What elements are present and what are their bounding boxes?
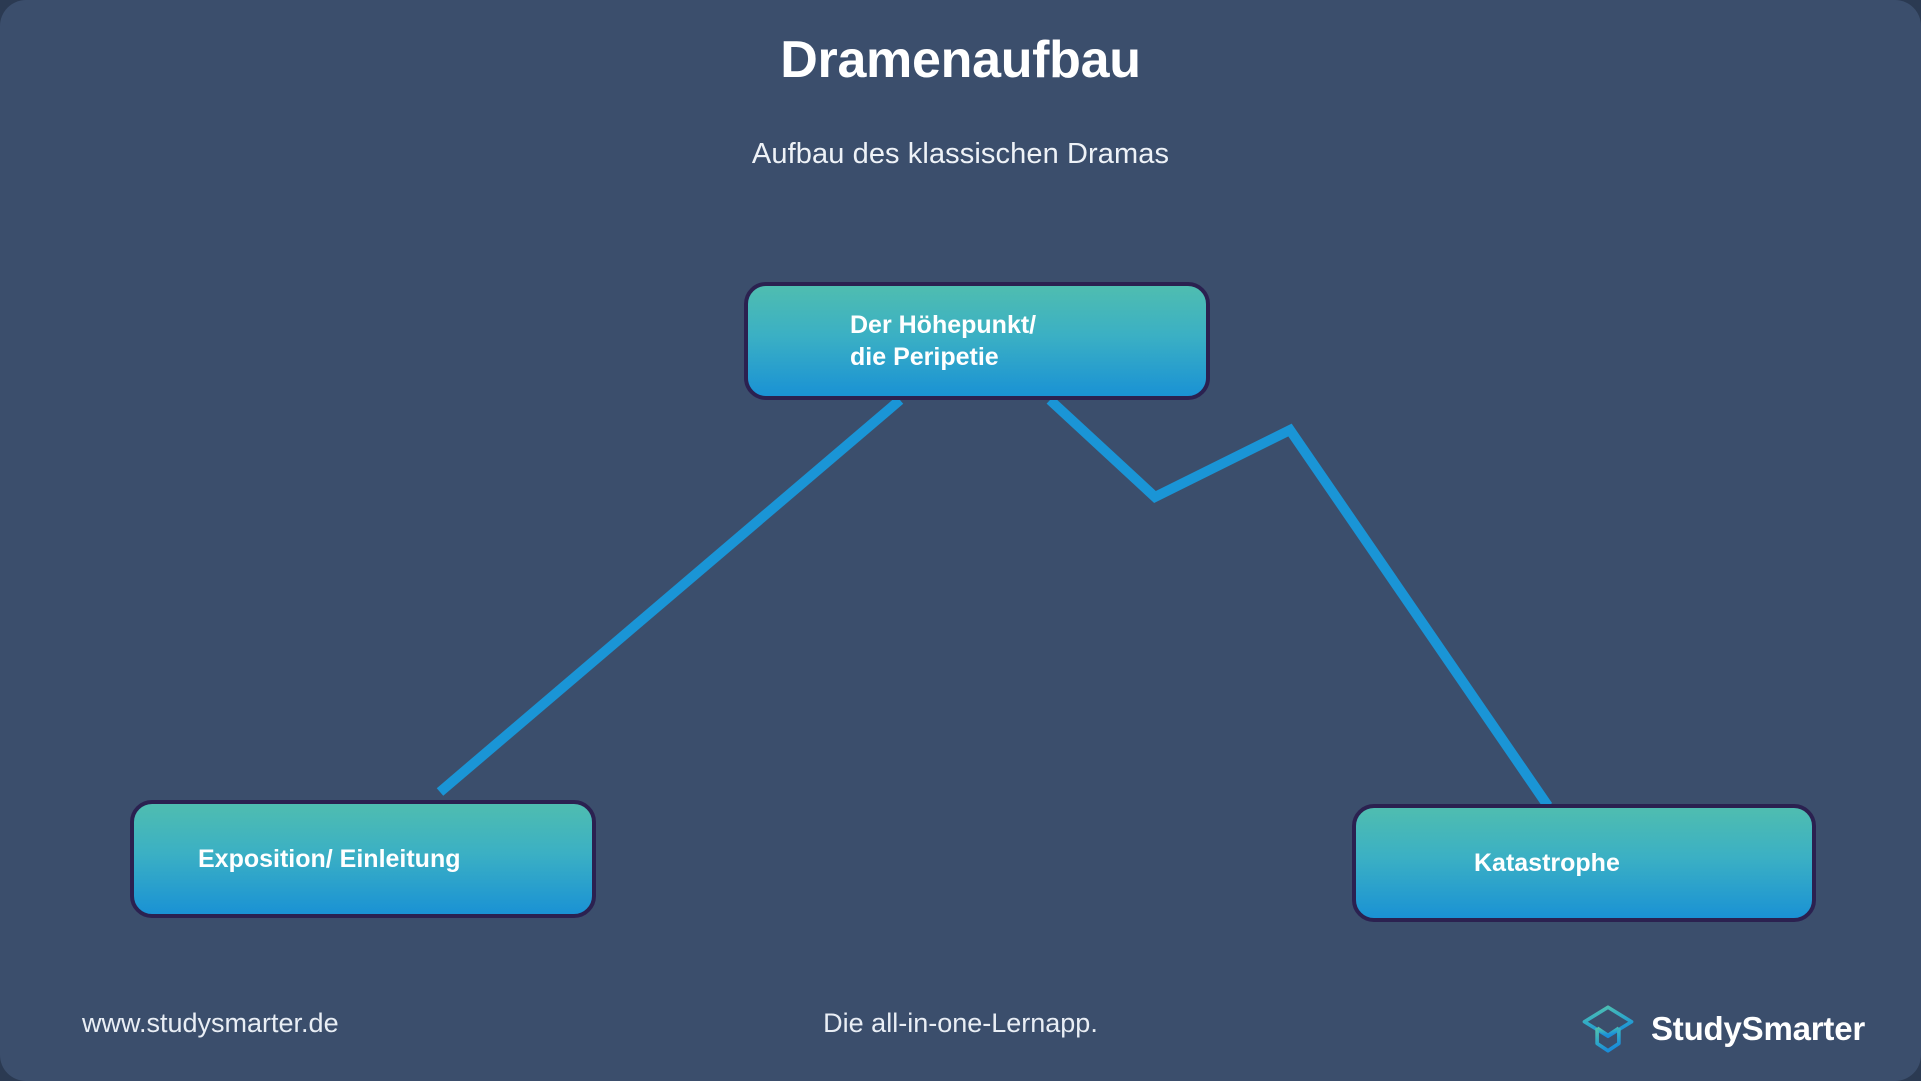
node-climax-label: Der Höhepunkt/ die Peripetie <box>850 309 1036 373</box>
brand-logo[interactable]: StudySmarter <box>1579 1000 1865 1058</box>
node-exposition-label: Exposition/ Einleitung <box>198 843 461 875</box>
brand-name: StudySmarter <box>1651 1010 1865 1048</box>
node-climax[interactable]: Der Höhepunkt/ die Peripetie <box>744 282 1210 400</box>
rising-action-line <box>440 400 900 792</box>
node-exposition[interactable]: Exposition/ Einleitung <box>130 800 596 918</box>
diagram-canvas: Dramenaufbau Aufbau des klassischen Dram… <box>0 0 1921 1081</box>
node-climax-label-line1: Der Höhepunkt/ <box>850 311 1036 339</box>
graduation-cap-icon <box>1579 1000 1637 1058</box>
node-catastrophe-label: Katastrophe <box>1474 847 1620 879</box>
node-catastrophe[interactable]: Katastrophe <box>1352 804 1816 922</box>
node-climax-label-line2: die Peripetie <box>850 343 999 371</box>
falling-action-line <box>1050 400 1548 806</box>
